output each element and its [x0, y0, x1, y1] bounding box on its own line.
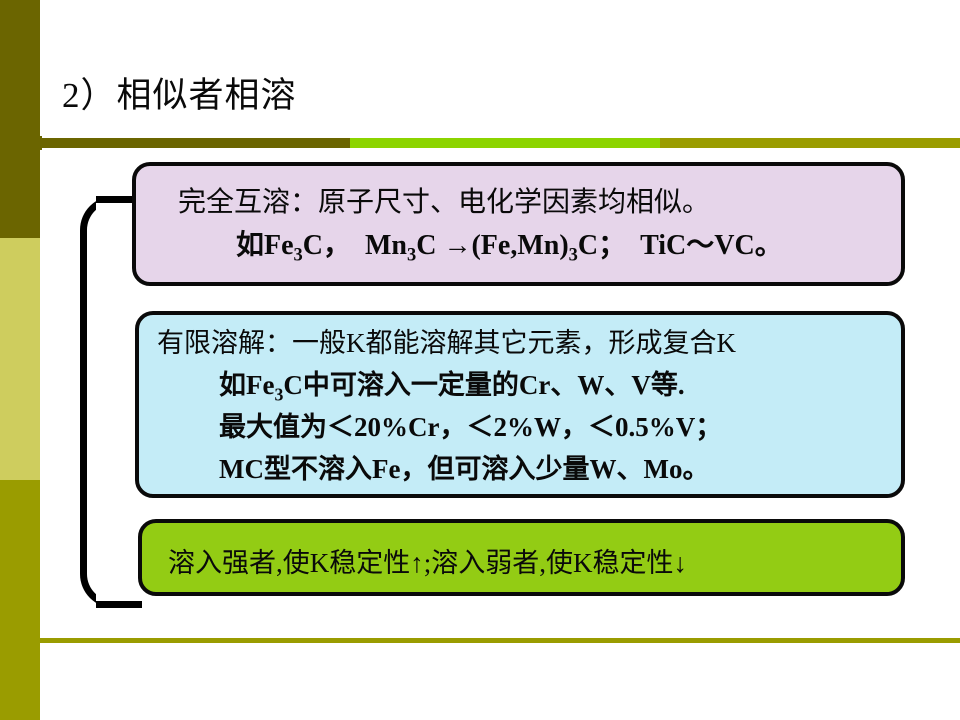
- formula-mn3c-mid: C， Mn: [303, 230, 407, 261]
- formula-fe3c-prefix-2: 如Fe: [219, 370, 274, 400]
- subscript-3b: 3: [407, 245, 416, 265]
- box-stability-rule: 溶入强者,使K稳定性↑;溶入弱者,使K稳定性↓: [138, 519, 905, 596]
- box-limited-solubility-line-4: MC型不溶入Fe，但可溶入少量W、Mo。: [219, 447, 709, 486]
- box-limited-solubility-line-1: 有限溶解：一般K都能溶解其它元素，形成复合K: [157, 321, 736, 360]
- box-full-solubility: 完全互溶：原子尺寸、电化学因素均相似。 如Fe3C， Mn3C →(Fe,Mn)…: [132, 162, 905, 286]
- slide-canvas: 2）相似者相溶 完全互溶：原子尺寸、电化学因素均相似。 如Fe3C， Mn3C …: [0, 0, 960, 720]
- box-full-solubility-line-2: 如Fe3C， Mn3C →(Fe,Mn)3C； TiC～VC。: [236, 223, 783, 266]
- formula-fe3c-suffix-2: C中可溶入一定量的Cr、W、V等.: [283, 370, 684, 400]
- header-segment-olive: [660, 138, 960, 148]
- subscript-3a: 3: [294, 245, 303, 265]
- formula-femn3c-mid: C →(Fe,Mn): [416, 230, 568, 261]
- formula-fe3c-prefix: 如Fe: [236, 230, 294, 261]
- box-full-solubility-line-1: 完全互溶：原子尺寸、电化学因素均相似。: [178, 180, 710, 220]
- sidebar-band-light-yellow-green: [0, 238, 40, 480]
- header-segment-dark-olive: [40, 138, 350, 148]
- formula-tic-vc-suffix: C； TiC～VC。: [578, 230, 783, 261]
- header-rule: [40, 138, 960, 148]
- box-stability-rule-line-1: 溶入强者,使K稳定性↑;溶入弱者,使K稳定性↓: [168, 541, 687, 580]
- grouping-bracket-bottom-arm: [96, 601, 142, 608]
- left-sidebar: [0, 0, 40, 720]
- footer-rule: [40, 638, 960, 643]
- subscript-3c: 3: [569, 245, 578, 265]
- box-limited-solubility-line-3: 最大值为＜20%Cr，＜2%W，＜0.5%V；: [219, 405, 722, 444]
- page-title: 2）相似者相溶: [62, 74, 297, 118]
- sidebar-band-dark-olive: [0, 0, 40, 238]
- header-segment-bright-green: [350, 138, 660, 148]
- sidebar-band-olive: [0, 480, 40, 720]
- box-limited-solubility: 有限溶解：一般K都能溶解其它元素，形成复合K 如Fe3C中可溶入一定量的Cr、W…: [135, 311, 905, 498]
- box-limited-solubility-line-2: 如Fe3C中可溶入一定量的Cr、W、V等.: [219, 363, 685, 405]
